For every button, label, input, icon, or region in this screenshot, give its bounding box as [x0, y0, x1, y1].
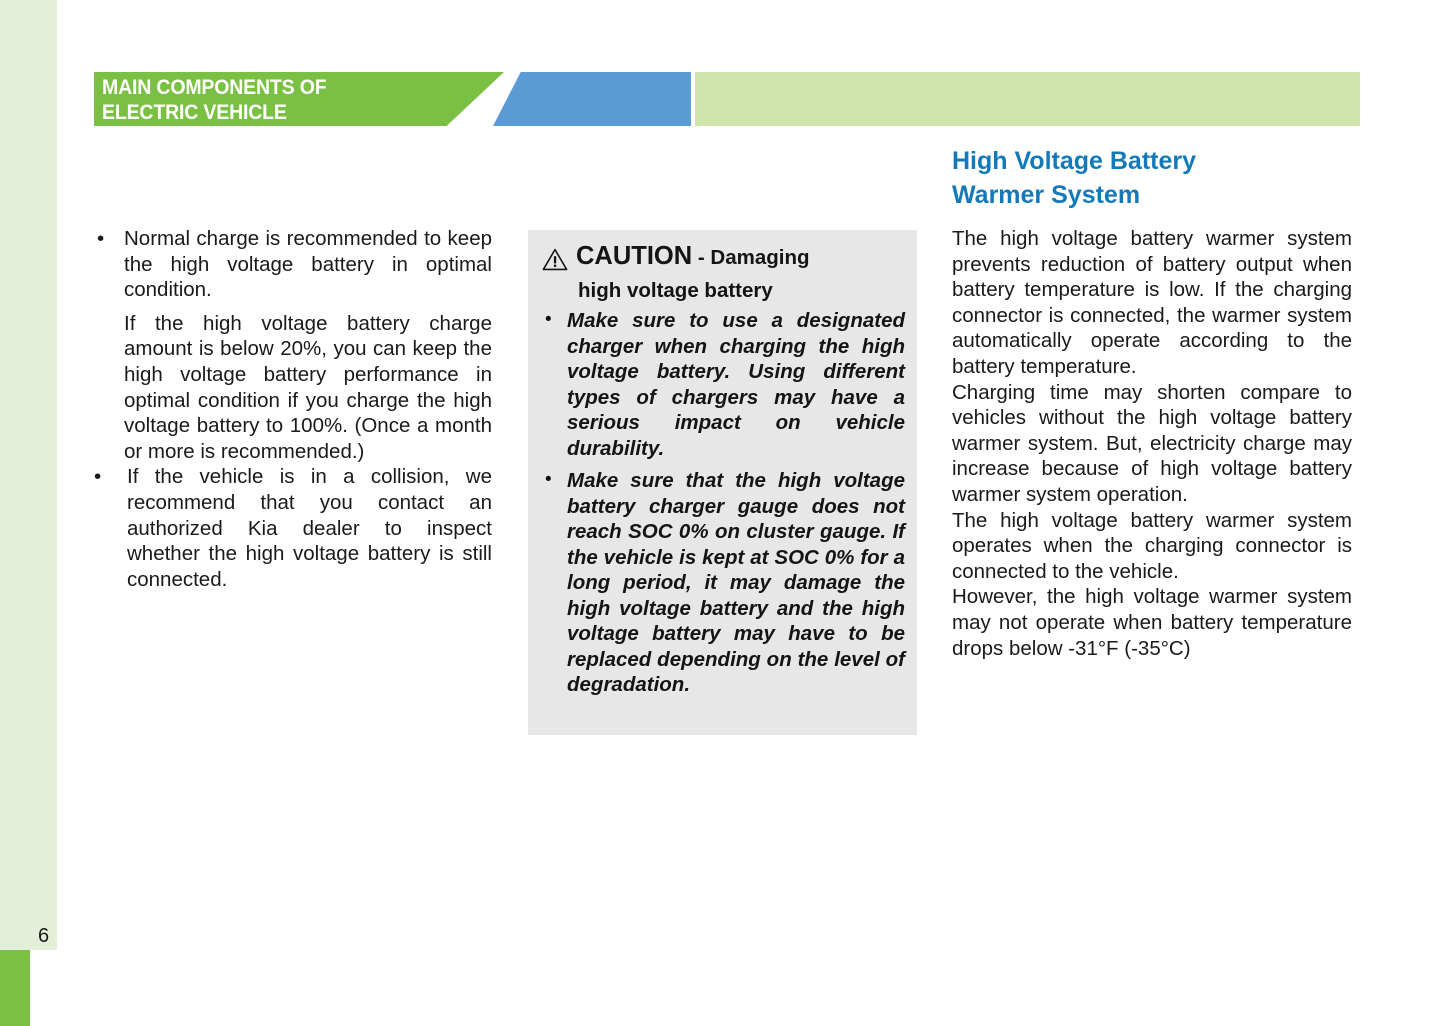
page-edge-strip — [0, 0, 57, 950]
caution-title-rest: Damaging — [710, 246, 809, 269]
caution-title: CAUTION — [576, 242, 692, 270]
caution-title-dash: - — [692, 246, 710, 269]
paragraph: However, the high voltage warmer system … — [952, 584, 1352, 661]
paragraph: The high voltage battery warmer system p… — [952, 226, 1352, 380]
bullet-marker: • — [97, 226, 104, 252]
bullet-marker: • — [545, 307, 552, 333]
list-item: • Make sure that the high voltage batter… — [540, 468, 905, 698]
caution-box: CAUTION - Damaging high voltage battery … — [528, 230, 917, 735]
left-column: • Normal charge is recommended to keep t… — [90, 226, 492, 592]
header-title: MAIN COMPONENTS OF ELECTRIC VEHICLE — [102, 73, 474, 125]
right-column: The high voltage battery warmer system p… — [952, 226, 1352, 661]
page-number: 6 — [38, 925, 49, 948]
header-lightgreen-band — [695, 72, 1360, 126]
page-header-band: MAIN COMPONENTS OF ELECTRIC VEHICLE — [0, 72, 1445, 126]
list-item: • Make sure to use a designated charger … — [540, 308, 905, 461]
bullet-marker: • — [94, 464, 101, 490]
caution-heading-line2: high voltage battery — [540, 277, 905, 304]
list-item-text: If the vehicle is in a collision, we rec… — [127, 465, 492, 590]
caution-list: • Make sure to use a designated charger … — [540, 308, 905, 698]
list-item-text: Normal charge is recommended to keep the… — [124, 227, 492, 301]
page-edge-tab — [0, 950, 30, 1026]
page-title: High Voltage Battery Warmer System — [952, 144, 1352, 212]
warning-triangle-icon — [542, 248, 568, 271]
paragraph: The high voltage battery warmer system o… — [952, 508, 1352, 585]
list-item-text: Make sure that the high voltage battery … — [567, 469, 905, 696]
header-blue-shape — [493, 72, 691, 126]
caution-heading: CAUTION - Damaging — [540, 242, 905, 271]
list-item-subtext: If the high voltage battery charge amoun… — [124, 311, 492, 465]
list-item: • Normal charge is recommended to keep t… — [90, 226, 492, 464]
list-item-text: Make sure to use a designated charger wh… — [567, 309, 905, 460]
paragraph: Charging time may shorten compare to veh… — [952, 380, 1352, 508]
list-item: • If the vehicle is in a collision, we r… — [90, 464, 492, 592]
bullet-marker: • — [545, 467, 552, 493]
